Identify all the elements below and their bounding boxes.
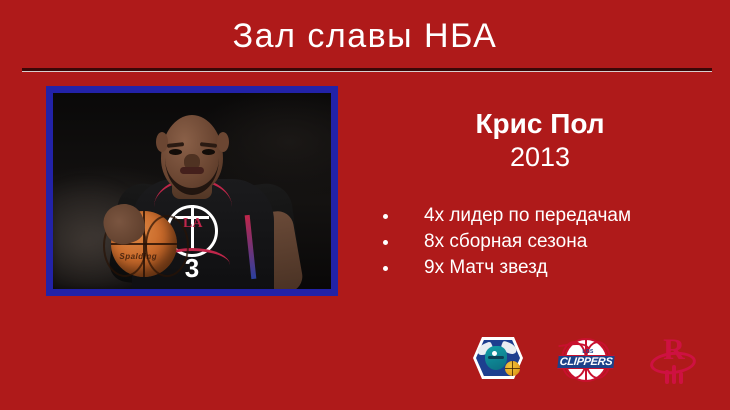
page-title: Зал славы НБА <box>0 16 730 56</box>
list-item: 9х Матч звезд <box>378 255 708 280</box>
rockets-letter-r: R <box>660 334 688 366</box>
rockets-logo-icon: R <box>646 330 702 386</box>
player-year: 2013 <box>375 142 705 172</box>
achievements-list: 4х лидер по передачам 8х сборная сезона … <box>378 203 708 281</box>
team-logos-row: LOS ANGELES CLIPPERS R <box>470 328 702 388</box>
bullet-icon <box>383 214 388 219</box>
bullet-icon <box>383 266 388 271</box>
player-name: Крис Пол <box>375 108 705 140</box>
bullet-icon <box>383 240 388 245</box>
list-item: 4х лидер по передачам <box>378 203 708 228</box>
achievement-label: 4х лидер по передачам <box>424 205 631 226</box>
player-photo: LA 3 Spalding <box>53 93 331 289</box>
ball-brand-text: Spalding <box>119 252 157 261</box>
achievement-label: 9х Матч звезд <box>424 257 548 278</box>
player-eye-left <box>169 149 182 155</box>
hornets-mascot-eye <box>492 351 497 356</box>
ball-seam-curve-right <box>145 215 189 277</box>
hornets-mascot-stripe <box>488 356 504 359</box>
clippers-name-label: CLIPPERS <box>557 355 614 369</box>
player-photo-frame: LA 3 Spalding <box>46 86 338 296</box>
hornets-basketball-icon <box>505 361 520 376</box>
clippers-logo-icon: LOS ANGELES CLIPPERS <box>558 330 614 386</box>
slide-canvas: Зал славы НБА LA 3 <box>0 0 730 410</box>
hornets-logo-icon <box>470 330 526 386</box>
title-divider <box>22 68 712 72</box>
achievement-label: 8х сборная сезона <box>424 231 587 252</box>
player-mouth <box>180 167 204 174</box>
list-item: 8х сборная сезона <box>378 229 708 254</box>
player-eye-right <box>202 149 215 155</box>
rockets-flame-right <box>679 372 683 384</box>
